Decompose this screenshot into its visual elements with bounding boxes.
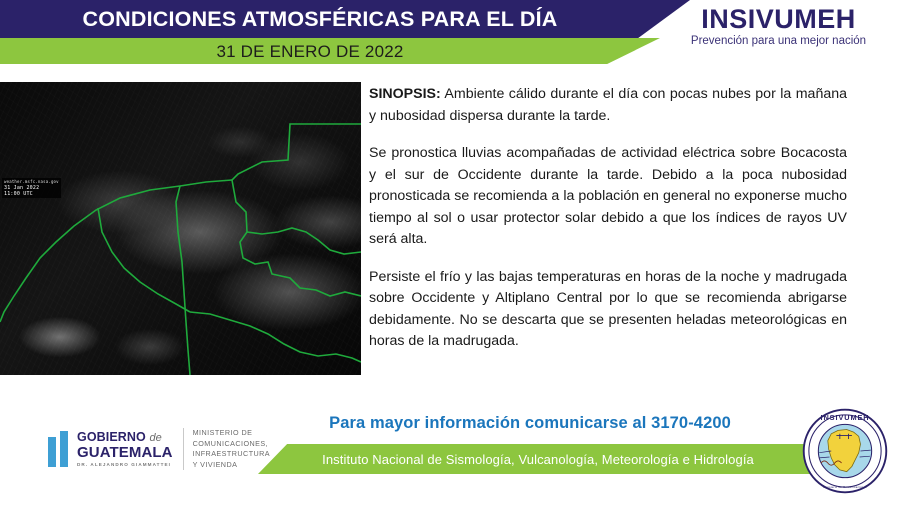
synopsis-text-block: SINOPSIS: Ambiente cálido durante el día…: [369, 84, 847, 353]
insivumeh-seal-icon: INSIVUMEH Ministerio de Comunicaciones: [802, 408, 888, 494]
gobierno-bar-left: [48, 437, 56, 467]
brand-name: INSIVUMEH: [671, 4, 886, 34]
seal-bottom-text: Ministerio de Comunicaciones: [823, 485, 867, 489]
gobierno-bars-icon: [48, 431, 68, 467]
satellite-timestamp: weather.msfc.nasa.gov 31 Jan 2022 11:00 …: [2, 178, 61, 198]
insivumeh-wordmark: INSIVUMEH Prevención para una mejor naci…: [671, 4, 886, 48]
gobierno-de-guatemala-logo: GOBIERNO de GUATEMALA DR. ALEJANDRO GIAM…: [48, 428, 270, 470]
page-title: CONDICIONES ATMOSFÉRICAS PARA EL DÍA: [0, 0, 640, 38]
gobierno-president-name: DR. ALEJANDRO GIAMMATTEI: [77, 463, 173, 468]
logo-divider: [183, 428, 184, 470]
contact-phone-text: Para mayor información comunicarse al 31…: [270, 414, 790, 433]
satellite-time: 11:00 UTC: [4, 191, 33, 197]
gobierno-word: GOBIERNO: [77, 430, 146, 444]
institute-full-name: Instituto Nacional de Sismología, Vulcan…: [258, 444, 818, 474]
synopsis-paragraph-1: SINOPSIS: Ambiente cálido durante el día…: [369, 84, 847, 127]
synopsis-paragraph-2: Se pronostica lluvias acompañadas de act…: [369, 143, 847, 251]
satellite-source-label: weather.msfc.nasa.gov: [4, 179, 59, 185]
gobierno-line-1: GOBIERNO de: [77, 431, 173, 444]
page-header: CONDICIONES ATMOSFÉRICAS PARA EL DÍA 31 …: [0, 0, 900, 78]
synopsis-label: SINOPSIS:: [369, 86, 441, 102]
country-borders-overlay: [0, 82, 361, 375]
gobierno-de-word: de: [149, 432, 161, 444]
ministerio-line-1: MINISTERIO DE: [193, 428, 270, 439]
synopsis-paragraph-3: Persiste el frío y las bajas temperatura…: [369, 267, 847, 353]
seal-top-text: INSIVUMEH: [820, 413, 869, 422]
satellite-image: weather.msfc.nasa.gov 31 Jan 2022 11:00 …: [0, 82, 361, 375]
gobierno-text: GOBIERNO de GUATEMALA DR. ALEJANDRO GIAM…: [77, 431, 173, 468]
page-footer: GOBIERNO de GUATEMALA DR. ALEJANDRO GIAM…: [0, 400, 900, 506]
gobierno-line-2: GUATEMALA: [77, 445, 173, 460]
bulletin-date: 31 DE ENERO DE 2022: [0, 38, 620, 64]
gobierno-bar-right: [60, 431, 68, 467]
synopsis-paragraph-1-text: Ambiente cálido durante el día con pocas…: [369, 86, 847, 124]
brand-tagline: Prevención para una mejor nación: [671, 34, 886, 48]
